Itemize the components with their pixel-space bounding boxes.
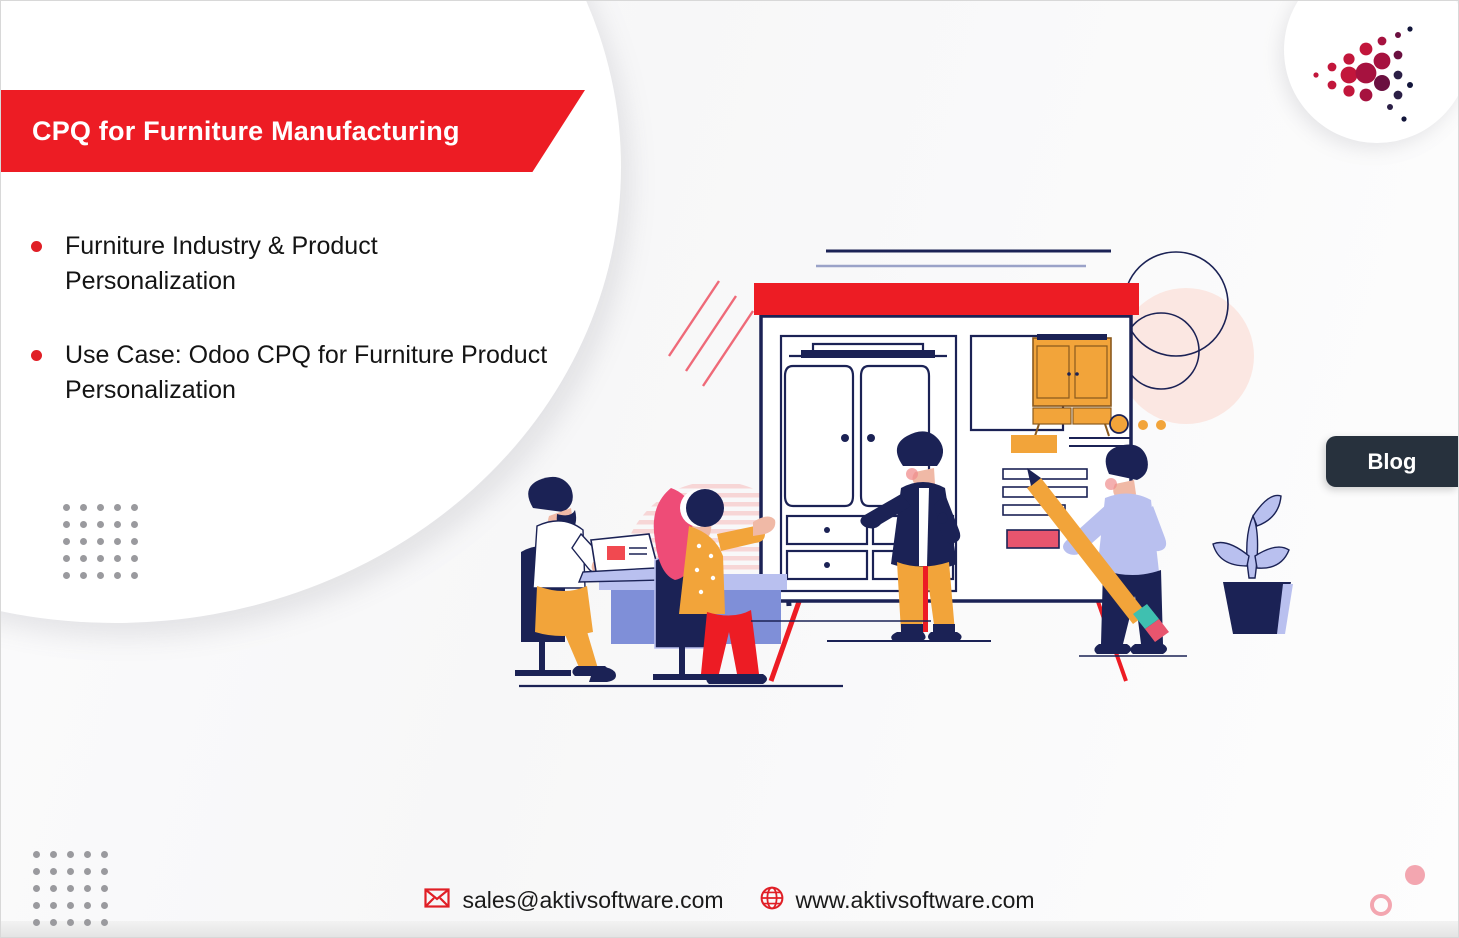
slide-canvas: CPQ for Furniture Manufacturing Furnitur…	[0, 0, 1459, 938]
email-text: sales@aktivsoftware.com	[462, 887, 723, 914]
website-text: www.aktivsoftware.com	[796, 887, 1035, 914]
contact-email[interactable]: sales@aktivsoftware.com	[424, 887, 723, 914]
blog-badge[interactable]: Blog	[1326, 436, 1458, 487]
diagonal-lines	[669, 281, 753, 386]
bullet-text: Use Case: Odoo CPQ for Furniture Product…	[65, 338, 551, 407]
bullet-text: Furniture Industry & Product Personaliza…	[65, 229, 551, 298]
aktiv-dots-logo-icon	[1312, 15, 1442, 135]
bullet-list: Furniture Industry & Product Personaliza…	[21, 229, 551, 447]
decorative-filled-circle	[1405, 865, 1425, 885]
seated-man-laptop	[515, 477, 663, 682]
status-badge: Blog	[1368, 449, 1417, 475]
team-furniture-configurator-illustration	[471, 226, 1351, 726]
page-title: CPQ for Furniture Manufacturing	[1, 116, 460, 147]
globe-icon	[760, 886, 784, 915]
footer-strip	[1, 921, 1458, 937]
list-item: Use Case: Odoo CPQ for Furniture Product…	[21, 338, 551, 407]
envelope-icon	[424, 888, 450, 913]
bullet-dot-icon	[31, 241, 42, 252]
bullet-dot-icon	[31, 350, 42, 361]
list-item: Furniture Industry & Product Personaliza…	[21, 229, 551, 298]
footer-contact-bar: sales@aktivsoftware.com www.aktivsoftwar…	[1, 886, 1458, 915]
potted-plant	[1213, 495, 1293, 634]
contact-website[interactable]: www.aktivsoftware.com	[760, 886, 1035, 915]
decorative-dot-grid-middle	[63, 504, 138, 579]
slide-title-banner: CPQ for Furniture Manufacturing	[1, 90, 585, 172]
sphere-decoration	[680, 489, 724, 527]
